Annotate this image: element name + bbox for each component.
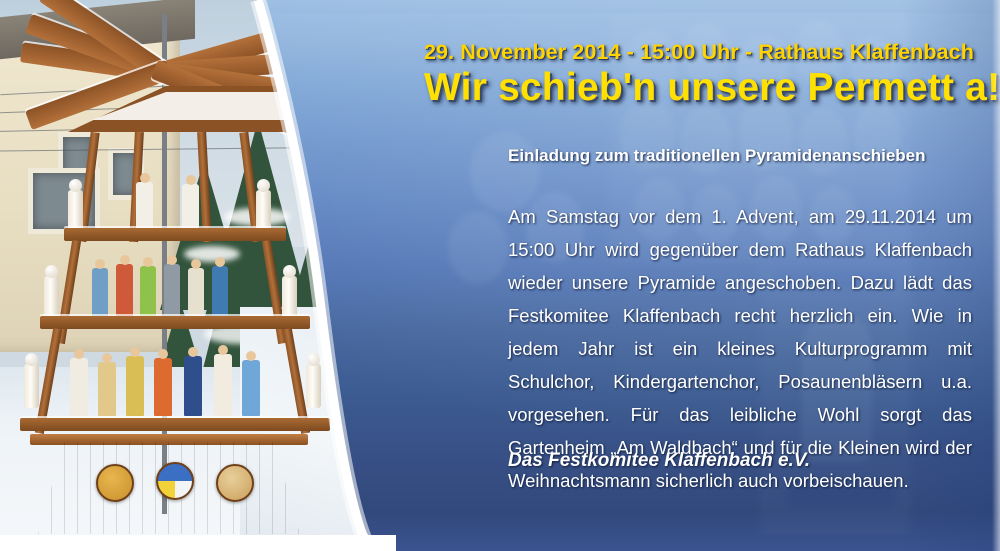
- pyramid-figure: [126, 356, 144, 416]
- pyramid-figure: [212, 266, 228, 316]
- pyramid-figure: [164, 264, 180, 316]
- organizer-signature: Das Festkomitee Klaffenbach e.V.: [508, 450, 810, 472]
- pyramid-figure: [154, 358, 172, 416]
- pyramid-figure: [140, 266, 156, 316]
- event-datetime-line: 29. November 2014 - 15:00 Uhr - Rathaus …: [424, 40, 974, 65]
- page-title: Wir schieb'n unsere Permett a!: [424, 66, 1000, 110]
- pyramid-figure: [136, 182, 153, 228]
- pyramid-candle: [282, 276, 297, 320]
- pyramid-figure: [70, 358, 88, 416]
- poster: 29. November 2014 - 15:00 Uhr - Rathaus …: [0, 0, 1000, 551]
- pyramid-deck: [40, 316, 310, 329]
- pyramid-deck: [20, 418, 330, 431]
- pyramid-figure: [184, 356, 202, 416]
- pyramid-post: [197, 132, 212, 242]
- crest-medallion: [96, 464, 134, 502]
- invitation-subtitle: Einladung zum traditionellen Pyramidenan…: [508, 146, 926, 166]
- pyramid-figure: [182, 184, 199, 228]
- pyramid-candle: [44, 276, 59, 320]
- crest-medallion: [156, 462, 194, 500]
- pyramid-figure: [188, 268, 204, 316]
- page-bottom-white-edge: [0, 535, 396, 551]
- pyramid-figure: [214, 354, 232, 416]
- pyramid-candle: [24, 364, 39, 408]
- pyramid-candle: [306, 364, 321, 408]
- pyramid-figure: [116, 264, 133, 316]
- crest-medallion: [216, 464, 254, 502]
- pyramid-figure: [92, 268, 108, 316]
- pyramid-figure: [242, 360, 260, 416]
- pyramid-figure: [98, 362, 116, 416]
- pyramid-deck: [64, 228, 286, 241]
